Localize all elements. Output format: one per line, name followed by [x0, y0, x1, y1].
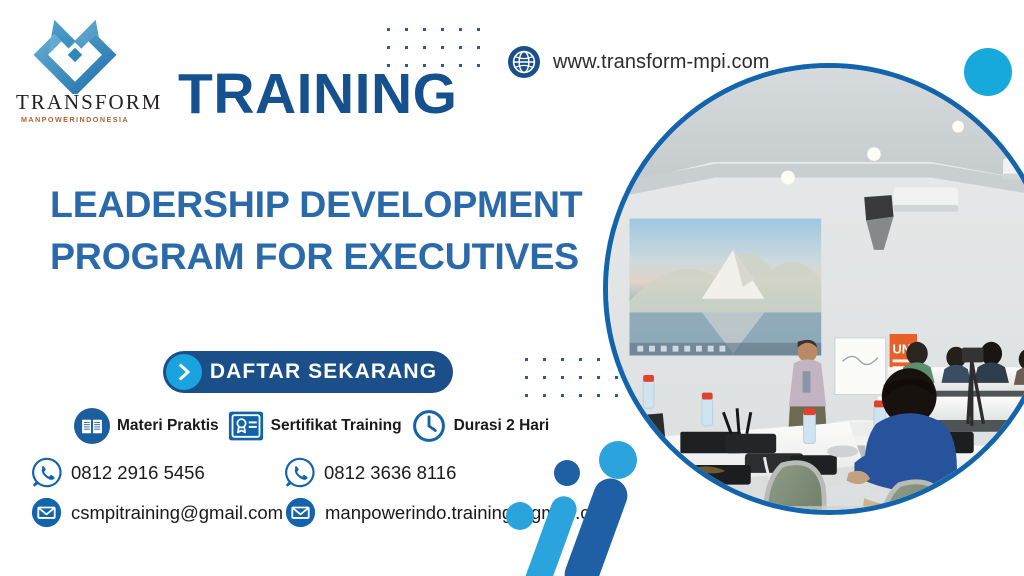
page-title-line-1: LEADERSHIP DEVELOPMENT: [50, 179, 590, 231]
eyebrow-training: TRAINING: [178, 66, 457, 123]
decorative-dot-grid-top: [387, 28, 480, 67]
globe-icon: [508, 46, 540, 78]
feature-badges: Materi Praktis Sertifikat Training Duras…: [74, 408, 549, 444]
envelope-icon: [285, 497, 316, 528]
page-title-line-2: PROGRAM FOR EXECUTIVES: [50, 231, 590, 283]
training-classroom-photo: UND: [608, 68, 1024, 510]
brand-logo: TRANSFORM MANPOWERINDONESIA: [16, 14, 134, 123]
phone-contacts: 0812 2916 5456 0812 3636 8116: [31, 457, 456, 488]
envelope-icon: [31, 497, 62, 528]
email-contact-1[interactable]: csmpitraining@gmail.com: [31, 497, 285, 528]
page-title: LEADERSHIP DEVELOPMENT PROGRAM FOR EXECU…: [50, 179, 590, 283]
phone-contact-2[interactable]: 0812 3636 8116: [284, 457, 456, 488]
flyer-canvas: TRANSFORM MANPOWERINDONESIA TRAINING www…: [0, 0, 1024, 576]
phone-icon: [31, 457, 62, 488]
logo-tagline: MANPOWERINDONESIA: [16, 116, 134, 123]
clock-icon: [411, 408, 447, 444]
feature-item: Materi Praktis: [74, 408, 219, 444]
decorative-dot-grid-middle: [525, 358, 618, 397]
feature-item: Sertifikat Training: [228, 408, 402, 444]
phone-icon: [284, 457, 315, 488]
feature-label: Sertifikat Training: [271, 417, 402, 435]
chevron-right-icon: [166, 354, 202, 390]
phone-contact-1[interactable]: 0812 2916 5456: [31, 457, 284, 488]
feature-label: Materi Praktis: [117, 417, 219, 435]
interlocking-diamond-logo-icon: [21, 14, 129, 94]
register-now-label: DAFTAR SEKARANG: [202, 360, 453, 384]
decorative-circle-top-right: [964, 48, 1012, 96]
open-book-icon: [74, 408, 110, 444]
logo-wordmark: TRANSFORM: [16, 92, 134, 113]
email-address: csmpitraining@gmail.com: [71, 502, 283, 524]
certificate-icon: [228, 408, 264, 444]
phone-number: 0812 3636 8116: [324, 462, 456, 484]
training-photo: UND: [603, 63, 1024, 515]
phone-number: 0812 2916 5456: [71, 462, 205, 484]
register-now-button[interactable]: DAFTAR SEKARANG: [163, 351, 453, 393]
